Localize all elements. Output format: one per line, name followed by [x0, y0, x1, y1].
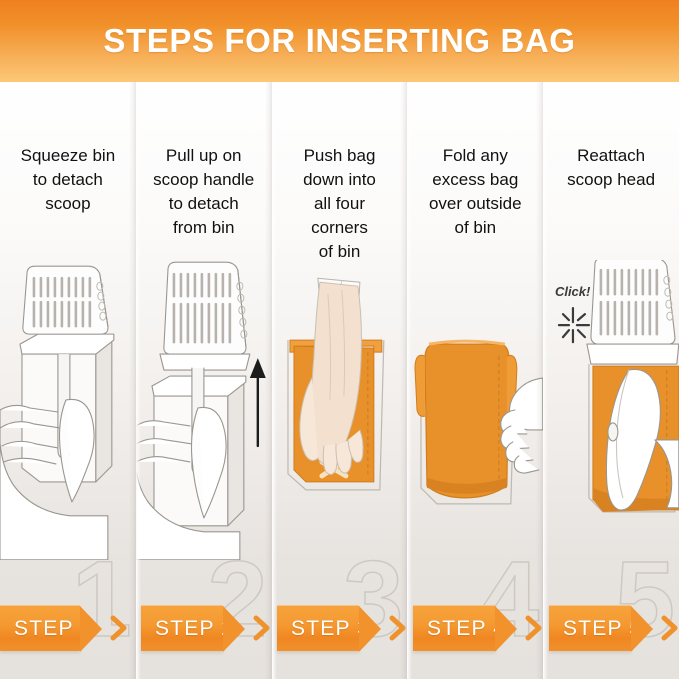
steps-board: Squeeze bin to detach scoop 1 [0, 82, 679, 679]
step-banner-label-1: STEP 1 [14, 617, 93, 641]
caption-line: scoop head [549, 168, 673, 192]
page-title: STEPS FOR INSERTING BAG [103, 22, 575, 60]
step-caption-4: Fold any excess bag over outside of bin [407, 144, 543, 240]
step-banners: STEP 1 STEP 2 STEP 3 STEP 4 STEP 5 [0, 605, 679, 651]
click-label: Click! [555, 284, 591, 299]
chevron-right-icon-4 [525, 615, 543, 641]
caption-line: Squeeze bin [6, 144, 130, 168]
step-illustration-5: Click! [543, 260, 679, 560]
steps-columns: Squeeze bin to detach scoop 1 [0, 82, 679, 679]
step-caption-5: Reattach scoop head [543, 144, 679, 192]
caption-line: Reattach [549, 144, 673, 168]
step-banner-body-2[interactable]: STEP 2 [141, 605, 223, 651]
step-illustration-1 [0, 260, 136, 560]
caption-line: excess bag [413, 168, 537, 192]
step-banner-4[interactable]: STEP 4 [413, 605, 543, 651]
caption-line: Pull up on [142, 144, 266, 168]
step-banner-body-5[interactable]: STEP 5 [549, 605, 631, 651]
step-column-5: Reattach scoop head 5 Click! [543, 82, 679, 679]
step-banner-1[interactable]: STEP 1 [0, 605, 128, 651]
step-banner-body-3[interactable]: STEP 3 [277, 605, 359, 651]
step-banner-body-4[interactable]: STEP 4 [413, 605, 495, 651]
chevron-right-icon-2 [253, 615, 271, 641]
chevron-right-icon-1 [110, 615, 128, 641]
step-banner-label-3: STEP 3 [291, 617, 370, 641]
caption-line: from bin [142, 216, 266, 240]
step-caption-2: Pull up on scoop handle to detach from b… [136, 144, 272, 240]
step-banner-5[interactable]: STEP 5 [549, 605, 679, 651]
step-banner-label-5: STEP 5 [563, 617, 642, 641]
step-column-2: Pull up on scoop handle to detach from b… [136, 82, 272, 679]
caption-line: of bin [413, 216, 537, 240]
caption-line: scoop [6, 192, 130, 216]
caption-line: Push bag [278, 144, 402, 168]
step-illustration-4 [407, 260, 543, 560]
chevron-right-icon-5 [661, 615, 679, 641]
caption-line: corners [278, 216, 402, 240]
step-illustration-3 [272, 260, 408, 560]
caption-line: all four [278, 192, 402, 216]
step-banner-2[interactable]: STEP 2 [141, 605, 271, 651]
page-header: STEPS FOR INSERTING BAG [0, 0, 679, 82]
step-banner-label-4: STEP 4 [427, 617, 506, 641]
caption-line: scoop handle [142, 168, 266, 192]
step-banner-label-2: STEP 2 [155, 617, 234, 641]
step-illustration-2 [136, 260, 272, 560]
caption-line: to detach [6, 168, 130, 192]
sparkle-icon [559, 308, 589, 342]
step-banner-3[interactable]: STEP 3 [277, 605, 407, 651]
step-caption-1: Squeeze bin to detach scoop [0, 144, 136, 216]
caption-line: down into [278, 168, 402, 192]
caption-line: over outside [413, 192, 537, 216]
step-banner-body-1[interactable]: STEP 1 [0, 605, 80, 651]
caption-line: to detach [142, 192, 266, 216]
step-column-4: Fold any excess bag over outside of bin … [407, 82, 543, 679]
step-column-1: Squeeze bin to detach scoop 1 [0, 82, 136, 679]
step-column-3: Push bag down into all four corners of b… [272, 82, 408, 679]
caption-line: Fold any [413, 144, 537, 168]
step-caption-3: Push bag down into all four corners of b… [272, 144, 408, 264]
chevron-right-icon-3 [389, 615, 407, 641]
